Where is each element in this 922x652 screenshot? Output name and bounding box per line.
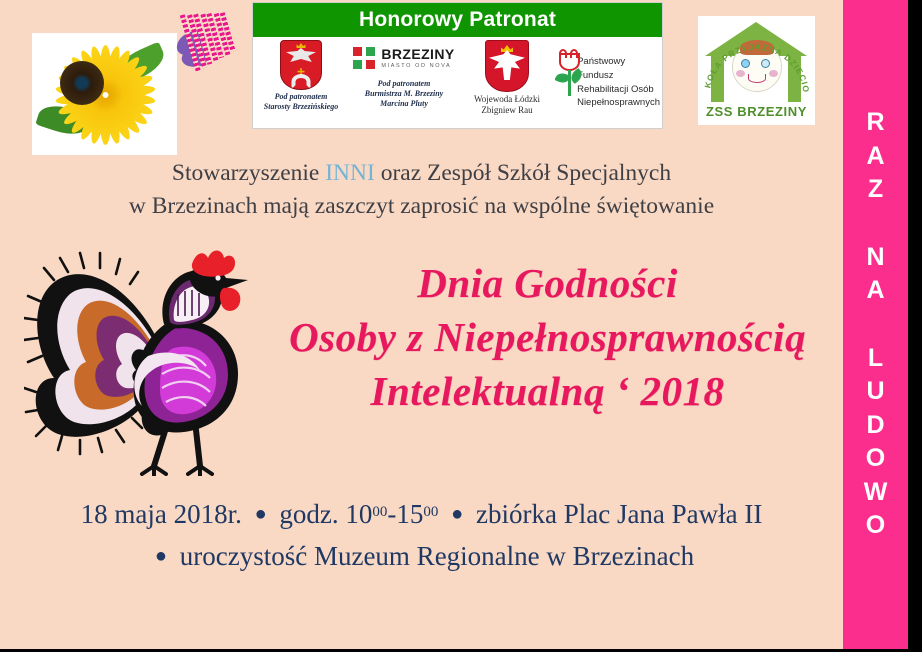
event-date: 18 maja 2018r.	[81, 499, 242, 529]
details-line-1: 18 maja 2018r. ● godz. 1000-1500 ● zbiór…	[0, 494, 843, 536]
svg-text:SZKOŁA PRZYJAZNA DZIECIOM: SZKOŁA PRZYJAZNA DZIECIOM	[698, 24, 811, 94]
inni-highlight: INNI	[325, 160, 375, 186]
invitation-line-2: w Brzezinach mają zaszczyt zaprosić na w…	[0, 190, 843, 223]
brzeziny-brand-name: BRZEZINY	[381, 47, 454, 61]
patron-county-caption-1: Pod patronatem	[264, 92, 338, 102]
patron-county-caption-2: Starosty Brzezińskiego	[264, 102, 338, 112]
school-arc-text: SZKOŁA PRZYJAZNA DZIECIOM	[698, 24, 815, 104]
pfron-text-2: Rehabilitacji Osób	[577, 83, 660, 97]
pfron-text-3: Niepełnosprawnych	[577, 96, 660, 110]
school-name-label: ZSS BRZEZINY	[698, 104, 815, 119]
side-band: RAZ NA LUDOWO	[843, 0, 908, 649]
side-band-letter: O	[864, 509, 888, 543]
brzeziny-brand-tagline: MIASTO OD NOVA	[381, 63, 454, 69]
side-band-letter: N	[866, 241, 884, 275]
event-title-line-1: Dnia Godności	[250, 256, 845, 310]
honorary-patronage-panel: Honorowy Patronat Pod patronatem Starost…	[252, 2, 663, 129]
patron-pfron: Państwowy Fundusz Rehabilitacji Osób Nie…	[555, 37, 660, 110]
event-title-line-2: Osoby z Niepełnosprawnością	[250, 310, 845, 364]
side-band-word-1: RAZ	[866, 106, 884, 207]
patronage-header-title: Honorowy Patronat	[253, 3, 662, 37]
patron-city-caption-1: Pod patronatem	[365, 79, 443, 89]
bullet-icon: ●	[451, 503, 463, 525]
sunflower-center	[60, 61, 104, 105]
event-ceremony-venue: uroczystość Muzeum Regionalne w Brzezina…	[180, 541, 694, 571]
patron-city-caption-3: Marcina Pluty	[365, 99, 443, 109]
polish-national-emblem-icon	[485, 40, 529, 92]
side-band-letter: Z	[866, 173, 884, 207]
brzeziny-city-logo-icon: BRZEZINY MIASTO OD NOVA	[353, 47, 454, 69]
folk-rooster-illustration	[24, 228, 260, 476]
right-black-edge	[908, 0, 922, 649]
event-poster: Honorowy Patronat Pod patronatem Starost…	[0, 0, 922, 652]
event-title: Dnia Godności Osoby z Niepełnosprawności…	[250, 256, 845, 418]
invitation-line-1: Stowarzyszenie INNI oraz Zespół Szkół Sp…	[0, 157, 843, 190]
patron-voivode-caption-2: Zbigniew Rau	[474, 105, 540, 116]
pfron-tulip-icon	[555, 53, 571, 97]
side-band-letter: D	[864, 409, 888, 443]
side-band-word-2: NA	[866, 241, 884, 308]
sunflower-photo	[32, 33, 177, 155]
patron-county: Pod patronatem Starosty Brzezińskiego	[253, 37, 349, 112]
patron-city-caption-2: Burmistrza M. Brzeziny	[365, 89, 443, 99]
side-band-letter: A	[866, 140, 884, 174]
event-time: godz. 1000-1500	[279, 499, 438, 529]
side-band-letter: L	[864, 342, 888, 376]
bullet-icon: ●	[255, 503, 267, 525]
invitation-intro: Stowarzyszenie INNI oraz Zespół Szkół Sp…	[0, 157, 843, 224]
patron-city: BRZEZINY MIASTO OD NOVA Pod patronatem B…	[349, 37, 459, 109]
event-meeting-point: zbiórka Plac Jana Pawła II	[476, 499, 762, 529]
intro-text-after: oraz Zespół Szkół Specjalnych	[375, 160, 671, 186]
event-details: 18 maja 2018r. ● godz. 1000-1500 ● zbiór…	[0, 494, 843, 578]
intro-text-before: Stowarzyszenie	[172, 160, 325, 186]
side-band-letter: R	[866, 106, 884, 140]
side-band-letter: A	[866, 274, 884, 308]
zss-school-logo: SZKOŁA PRZYJAZNA DZIECIOM ZSS BRZEZINY	[698, 16, 815, 125]
bullet-icon: ●	[155, 545, 167, 567]
brzeziny-county-coat-of-arms-icon	[280, 40, 322, 90]
pfron-text-1: Państwowy Fundusz	[577, 55, 660, 83]
side-band-letter: O	[864, 442, 888, 476]
side-band-letter: U	[864, 375, 888, 409]
side-band-word-3: LUDOWO	[864, 342, 888, 543]
patron-voivode: Wojewoda Łódzki Zbigniew Rau	[459, 37, 555, 117]
patron-voivode-caption-1: Wojewoda Łódzki	[474, 94, 540, 105]
details-line-2: ● uroczystość Muzeum Regionalne w Brzezi…	[0, 536, 843, 578]
side-band-letter: W	[864, 476, 888, 510]
event-title-line-3: Intelektualną ‘ 2018	[250, 364, 845, 418]
